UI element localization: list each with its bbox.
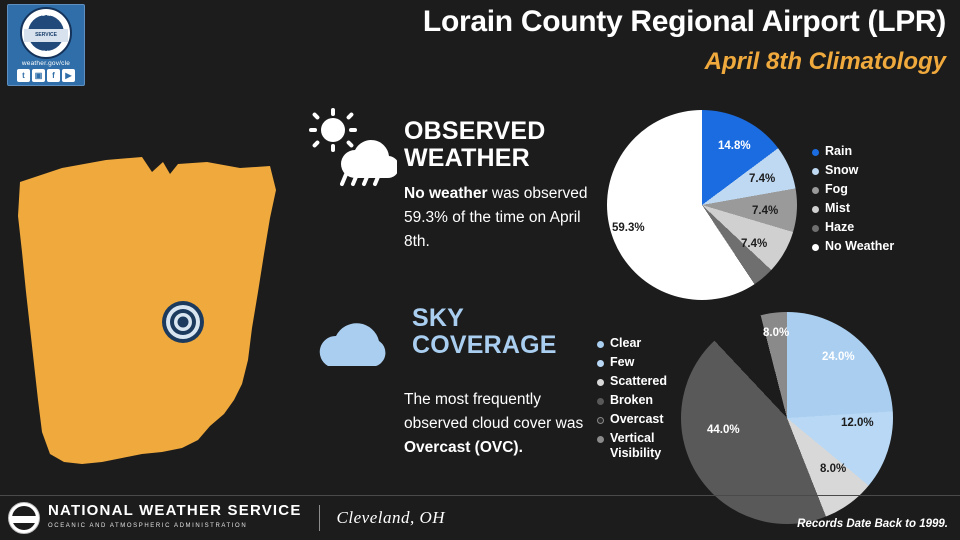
pie-observed-label-mist: 7.4% bbox=[741, 238, 767, 250]
legend-item-scattered: Scattered bbox=[597, 374, 674, 389]
sky-coverage-title: SKY COVERAGE bbox=[412, 305, 602, 359]
pie-sky-label-overcast: 8.0% bbox=[763, 327, 789, 339]
ohio-state-shape bbox=[18, 157, 276, 464]
pie-sky-label-clear: 24.0% bbox=[822, 351, 855, 363]
legend-dot-clear bbox=[597, 341, 604, 348]
footer-separator bbox=[319, 505, 320, 531]
cloud-icon bbox=[312, 312, 404, 376]
legend-dot-rain bbox=[812, 149, 819, 156]
page-title: Lorain County Regional Airport (LPR) bbox=[423, 4, 946, 40]
legend-label-fog: Fog bbox=[825, 182, 848, 197]
footer-divider bbox=[0, 495, 960, 496]
facebook-icon[interactable]: f bbox=[47, 69, 60, 82]
nws-seal-icon: NATIONAL WEATHER SERVICE NOAA bbox=[20, 7, 72, 59]
sky-body-bold: Overcast (OVC). bbox=[404, 439, 523, 456]
noaa-seal-icon bbox=[8, 502, 40, 534]
youtube-icon[interactable]: ▶ bbox=[62, 69, 75, 82]
legend-label-haze: Haze bbox=[825, 220, 854, 235]
legend-item-noweather: No Weather bbox=[812, 239, 894, 254]
footer-agency-main: NATIONAL WEATHER SERVICE bbox=[48, 505, 302, 517]
pie-sky-label-broken: 44.0% bbox=[707, 424, 740, 436]
pie-sky-label-few: 12.0% bbox=[841, 417, 874, 429]
legend-item-mist: Mist bbox=[812, 201, 894, 216]
observed-weather-legend: Rain Snow Fog Mist Haze No Weather bbox=[812, 144, 894, 258]
legend-label-scattered: Scattered bbox=[610, 374, 667, 389]
footer-agency-sub: OCEANIC AND ATMOSPHERIC ADMINISTRATION bbox=[48, 520, 302, 532]
legend-label-snow: Snow bbox=[825, 163, 858, 178]
legend-label-clear: Clear bbox=[610, 336, 641, 351]
legend-item-clear: Clear bbox=[597, 336, 674, 351]
sky-title-line1: SKY bbox=[412, 305, 602, 332]
nws-url-label: weather.gov/cle bbox=[22, 60, 70, 67]
twitter-icon[interactable]: t bbox=[17, 69, 30, 82]
legend-dot-noweather bbox=[812, 244, 819, 251]
legend-dot-haze bbox=[812, 225, 819, 232]
page-subtitle: April 8th Climatology bbox=[705, 48, 946, 76]
legend-dot-mist bbox=[812, 206, 819, 213]
legend-label-overcast: Overcast bbox=[610, 412, 664, 427]
observed-title-line1: OBSERVED bbox=[404, 118, 600, 145]
seal-bottom-text: NOAA bbox=[22, 49, 70, 54]
legend-dot-vertical-visibility bbox=[597, 436, 604, 443]
observed-title-line2: WEATHER bbox=[404, 145, 600, 172]
legend-label-vertical-visibility: Vertical Visibility bbox=[610, 431, 674, 461]
legend-label-broken: Broken bbox=[610, 393, 653, 408]
sky-title-line2: COVERAGE bbox=[412, 332, 602, 359]
pie-observed-label-rain: 14.8% bbox=[718, 140, 751, 152]
pie-observed-label-snow: 7.4% bbox=[749, 173, 775, 185]
sun-cloud-rain-icon bbox=[305, 108, 397, 188]
pie-observed-label-noweather: 59.3% bbox=[612, 222, 645, 234]
legend-dot-overcast bbox=[597, 417, 604, 424]
legend-item-vertical-visibility: Vertical Visibility bbox=[597, 431, 674, 461]
footer-branding: NATIONAL WEATHER SERVICE OCEANIC AND ATM… bbox=[8, 502, 445, 534]
social-links[interactable]: t ▣ f ▶ bbox=[17, 69, 75, 82]
sky-coverage-legend: Clear Few Scattered Broken Overcast Vert… bbox=[597, 336, 674, 465]
legend-label-rain: Rain bbox=[825, 144, 852, 159]
ohio-map bbox=[2, 132, 302, 492]
legend-dot-few bbox=[597, 360, 604, 367]
observed-weather-text: OBSERVED WEATHER No weather was observed… bbox=[404, 118, 600, 254]
footer-office-label: Cleveland, OH bbox=[337, 508, 445, 528]
legend-item-overcast: Overcast bbox=[597, 412, 674, 427]
legend-dot-snow bbox=[812, 168, 819, 175]
seal-top-text: NATIONAL WEATHER bbox=[22, 12, 70, 17]
legend-item-broken: Broken bbox=[597, 393, 674, 408]
legend-item-snow: Snow bbox=[812, 163, 894, 178]
pie-sky-label-scattered: 8.0% bbox=[820, 463, 846, 475]
observed-body: No weather was observed 59.3% of the tim… bbox=[404, 182, 600, 254]
legend-item-rain: Rain bbox=[812, 144, 894, 159]
observed-body-bold: No weather bbox=[404, 185, 488, 202]
legend-dot-fog bbox=[812, 187, 819, 194]
sky-coverage-body: The most frequently observed cloud cover… bbox=[404, 388, 600, 460]
nws-logo-block: NATIONAL WEATHER SERVICE NOAA weather.go… bbox=[7, 4, 85, 86]
legend-item-few: Few bbox=[597, 355, 674, 370]
footer-records-note: Records Date Back to 1999. bbox=[797, 518, 948, 530]
legend-dot-broken bbox=[597, 398, 604, 405]
station-marker bbox=[162, 301, 204, 343]
legend-item-fog: Fog bbox=[812, 182, 894, 197]
footer-agency-names: NATIONAL WEATHER SERVICE OCEANIC AND ATM… bbox=[48, 505, 302, 532]
sky-body-pre: The most frequently observed cloud cover… bbox=[404, 391, 583, 432]
legend-label-few: Few bbox=[610, 355, 634, 370]
legend-dot-scattered bbox=[597, 379, 604, 386]
legend-label-noweather: No Weather bbox=[825, 239, 894, 254]
pie-observed-label-fog: 7.4% bbox=[752, 205, 778, 217]
seal-band-text: SERVICE bbox=[22, 32, 70, 38]
instagram-icon[interactable]: ▣ bbox=[32, 69, 45, 82]
legend-item-haze: Haze bbox=[812, 220, 894, 235]
legend-label-mist: Mist bbox=[825, 201, 850, 216]
